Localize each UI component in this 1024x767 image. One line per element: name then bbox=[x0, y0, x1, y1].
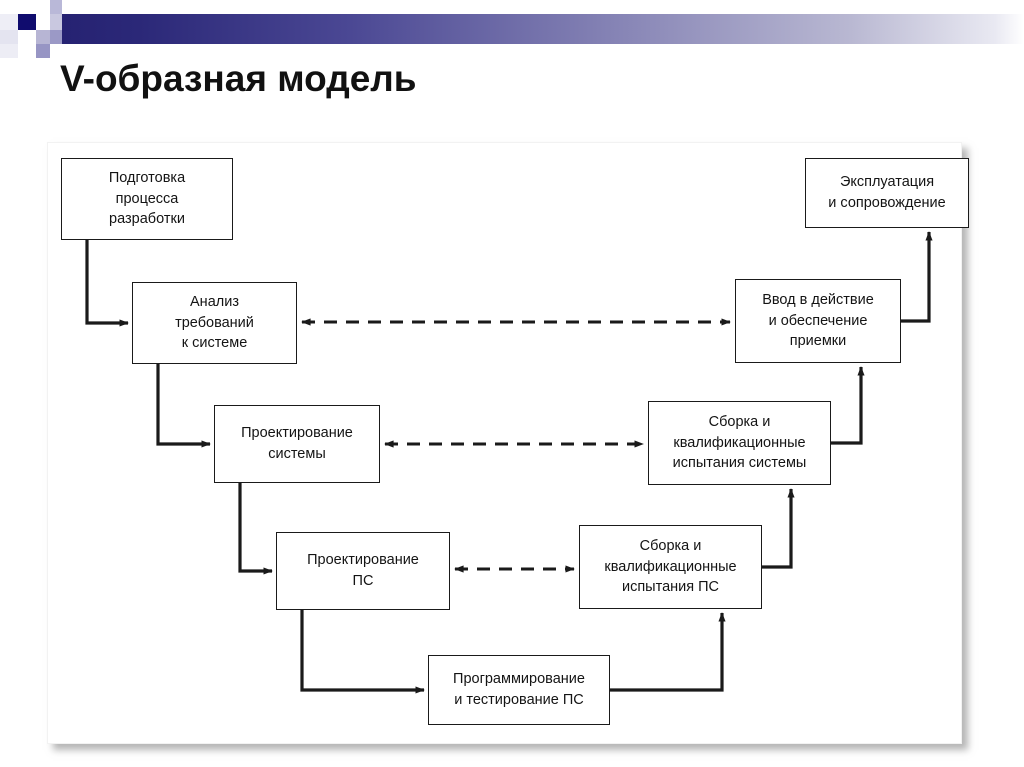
slide: V-образная модель Подготовкапроцессаразр… bbox=[0, 0, 1024, 767]
flowchart-node-label: Подготовкапроцессаразработки bbox=[66, 168, 228, 230]
flowchart-node-systest[interactable]: Сборка иквалификационныеиспытания систем… bbox=[648, 401, 831, 485]
mosaic-square bbox=[36, 44, 50, 58]
flowchart-node-label: ПроектированиеПС bbox=[281, 550, 445, 591]
flowchart-node-swtest[interactable]: Сборка иквалификационныеиспытания ПС bbox=[579, 525, 762, 609]
flowchart-node-req[interactable]: Анализтребованийк системе bbox=[132, 282, 297, 364]
flowchart-node-operation[interactable]: Эксплуатацияи сопровождение bbox=[805, 158, 969, 228]
mosaic-square bbox=[18, 14, 36, 30]
solid-arrow-systest-to-deployment bbox=[831, 367, 861, 443]
mosaic-square bbox=[36, 0, 50, 14]
page-title: V-образная модель bbox=[60, 58, 417, 100]
flowchart-node-label: Анализтребованийк системе bbox=[137, 292, 292, 354]
mosaic-square bbox=[50, 44, 62, 58]
solid-arrow-swtest-to-systest bbox=[762, 489, 791, 567]
mosaic-square bbox=[0, 14, 18, 30]
mosaic-square bbox=[36, 14, 50, 30]
flowchart-node-label: Сборка иквалификационныеиспытания ПС bbox=[584, 536, 757, 598]
flowchart-node-deployment[interactable]: Ввод в действиеи обеспечениеприемки bbox=[735, 279, 901, 363]
flowchart-node-label: Программированиеи тестирование ПС bbox=[433, 669, 605, 710]
mosaic-square bbox=[50, 0, 62, 14]
mosaic-square bbox=[18, 30, 36, 44]
mosaic-square bbox=[18, 0, 36, 14]
mosaic-square bbox=[18, 44, 36, 58]
flowchart-node-sysdesign[interactable]: Проектированиесистемы bbox=[214, 405, 380, 483]
flowchart-node-label: Эксплуатацияи сопровождение bbox=[810, 172, 964, 213]
solid-arrow-prep-to-req bbox=[87, 240, 128, 323]
flowchart-node-label: Проектированиесистемы bbox=[219, 423, 375, 464]
flowchart-node-label: Сборка иквалификационныеиспытания систем… bbox=[653, 412, 826, 474]
solid-arrow-req-to-sysdesign bbox=[158, 364, 210, 444]
solid-arrow-swdesign-to-coding bbox=[302, 610, 424, 690]
header-gradient-bar bbox=[62, 14, 1024, 44]
mosaic-square bbox=[50, 14, 62, 30]
flowchart-node-coding[interactable]: Программированиеи тестирование ПС bbox=[428, 655, 610, 725]
mosaic-square bbox=[0, 30, 18, 44]
mosaic-square bbox=[50, 30, 62, 44]
solid-arrow-deployment-to-operation bbox=[901, 232, 929, 321]
solid-arrow-coding-to-swtest bbox=[610, 613, 722, 690]
flowchart-node-label: Ввод в действиеи обеспечениеприемки bbox=[740, 290, 896, 352]
flowchart-node-swdesign[interactable]: ПроектированиеПС bbox=[276, 532, 450, 610]
diagram-frame: ПодготовкапроцессаразработкиАнализтребов… bbox=[47, 142, 962, 744]
mosaic-square bbox=[0, 0, 18, 14]
mosaic-square bbox=[0, 44, 18, 58]
flowchart-node-prep[interactable]: Подготовкапроцессаразработки bbox=[61, 158, 233, 240]
mosaic-square bbox=[36, 30, 50, 44]
solid-arrow-sysdesign-to-swdesign bbox=[240, 483, 272, 571]
